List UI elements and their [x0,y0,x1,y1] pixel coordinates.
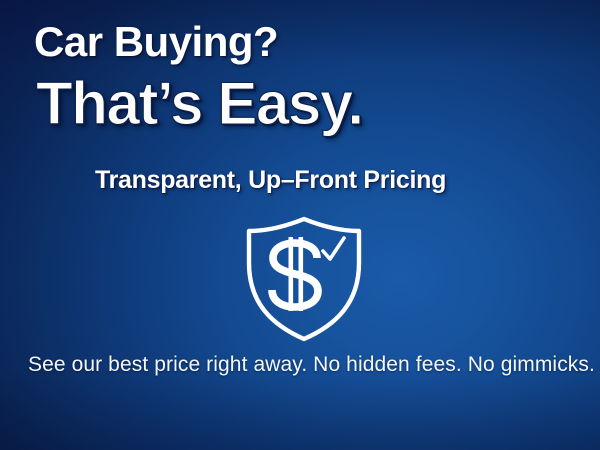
shield-icon-svg [240,215,370,345]
headline-secondary: That’s Easy. [36,72,363,135]
headline-primary: Car Buying? [34,20,278,64]
shield-dollar-check-icon [240,215,370,345]
checkmark-icon [323,238,344,259]
dollar-sign-glyph [272,237,318,311]
tagline-text: See our best price right away. No hidden… [28,353,595,377]
promo-banner: Car Buying? That’s Easy. Transparent, Up… [0,0,600,450]
subtitle-pricing: Transparent, Up–Front Pricing [95,166,446,195]
